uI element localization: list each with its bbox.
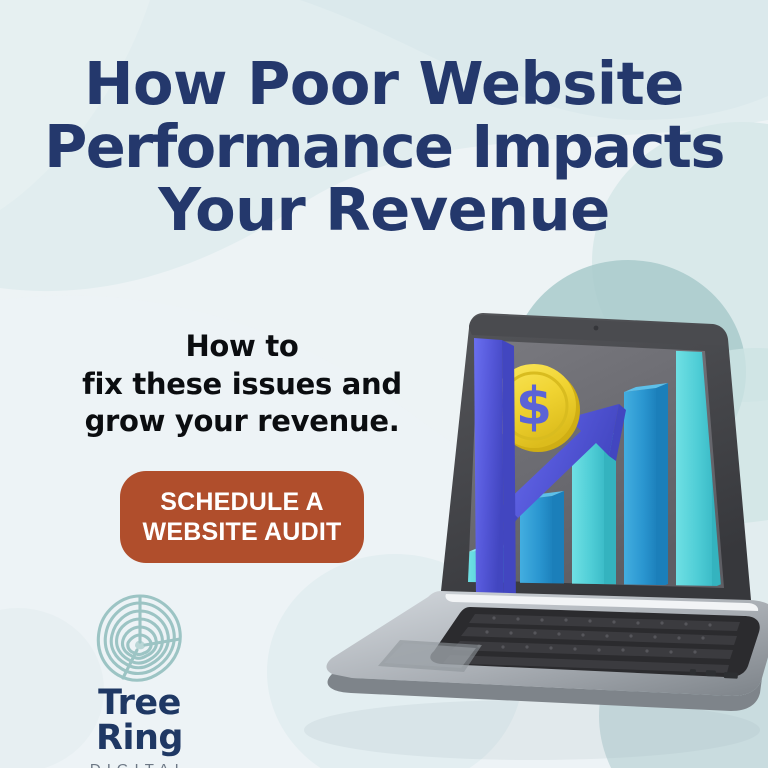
brand-logo[interactable]: Tree Ring DIGITAL [52, 592, 227, 768]
subheading-line-2: fix these issues and [52, 366, 432, 404]
subheading-line-3: grow your revenue. [52, 403, 432, 441]
chart-bar-4 [624, 383, 668, 591]
headline-line-1: How Poor Website [0, 52, 768, 115]
coin-dollar-symbol: $ [516, 377, 552, 437]
headline-line-2: Performance Impacts [0, 115, 768, 178]
page-title: How Poor Website Performance Impacts You… [0, 52, 768, 241]
poster-canvas: How Poor Website Performance Impacts You… [0, 0, 768, 768]
cta-line-1: SCHEDULE A [160, 487, 324, 518]
subheading-line-1: How to [52, 328, 432, 366]
subheading: How to fix these issues and grow your re… [52, 328, 432, 441]
logo-wordmark: Tree Ring [52, 686, 227, 756]
cta-line-2: WEBSITE AUDIT [143, 517, 342, 548]
tree-ring-icon [90, 592, 190, 684]
headline-line-3: Your Revenue [0, 178, 768, 241]
logo-tagline: DIGITAL [52, 761, 227, 768]
laptop-base [326, 591, 768, 711]
schedule-website-audit-button[interactable]: SCHEDULE A WEBSITE AUDIT [120, 471, 364, 563]
